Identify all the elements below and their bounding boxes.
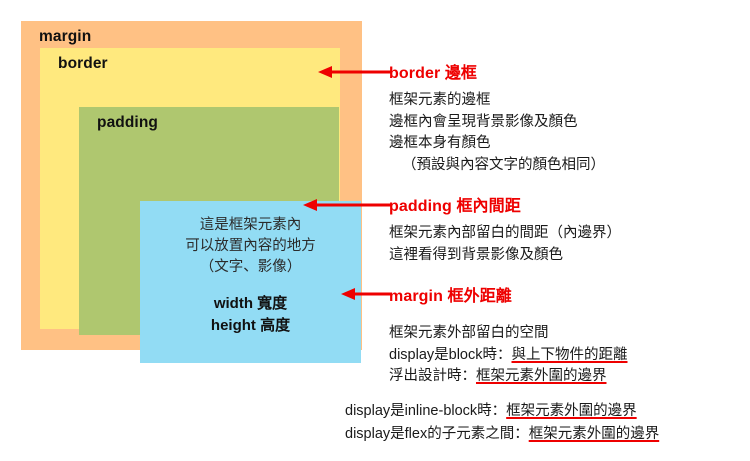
arrow-to-margin-icon — [339, 286, 392, 302]
annotation-border-heading: border 邊框 — [389, 59, 605, 83]
content-dimension-line: height 高度 — [140, 315, 361, 337]
annotation-line-emphasis: 與上下物件的距離 — [512, 347, 628, 363]
annotation-line: 框架元素的邊框 — [389, 90, 605, 112]
annotation-line-prefix: 浮出設計時： — [389, 368, 476, 384]
annotation-line: 浮出設計時：框架元素外圍的邊界 — [389, 366, 628, 388]
annotation-line: display是flex的子元素之間：框架元素外圍的邊界 — [345, 423, 750, 446]
annotation-line: 框架元素內部留白的間距（內邊界） — [389, 223, 621, 245]
annotation-margin-heading: margin 框外距離 — [389, 282, 628, 306]
annotation-padding-heading: padding 框內間距 — [389, 192, 621, 216]
padding-box-label: padding — [97, 114, 158, 132]
annotation-line: display是inline-block時：框架元素外圍的邊界 — [345, 400, 750, 423]
content-description-text: 這是框架元素內可以放置內容的地方（文字、影像） — [140, 215, 361, 278]
annotation-line-prefix: display是block時： — [389, 347, 512, 363]
annotation-padding: padding 框內間距 框架元素內部留白的間距（內邊界）這裡看得到背景影像及顏… — [389, 192, 621, 266]
annotation-line-emphasis: 框架元素外圍的邊界 — [506, 403, 637, 419]
border-box-label: border — [58, 55, 108, 73]
annotation-border: border 邊框 框架元素的邊框邊框內會呈現背景影像及顏色邊框本身有顏色（預設… — [389, 59, 605, 176]
annotation-padding-body: 框架元素內部留白的間距（內邊界）這裡看得到背景影像及顏色 — [389, 223, 621, 266]
annotation-line: 邊框本身有顏色 — [389, 133, 605, 155]
padding-box: padding 這是框架元素內可以放置內容的地方（文字、影像） width 寬度… — [79, 107, 339, 335]
annotation-line-prefix: display是flex的子元素之間： — [345, 426, 529, 442]
annotation-line: 框架元素外部留白的空間 — [389, 323, 628, 345]
annotation-line: 邊框內會呈現背景影像及顏色 — [389, 112, 605, 134]
content-description-line: 這是框架元素內 — [140, 215, 361, 236]
annotation-line-prefix: display是inline-block時： — [345, 403, 506, 419]
box-model-diagram: margin border padding 這是框架元素內可以放置內容的地方（文… — [21, 21, 362, 350]
bottom-notes: display是inline-block時：框架元素外圍的邊界display是f… — [345, 400, 750, 446]
border-box: border padding 這是框架元素內可以放置內容的地方（文字、影像） w… — [40, 48, 340, 329]
margin-box-label: margin — [39, 28, 91, 46]
annotation-line: （預設與內容文字的顏色相同） — [389, 155, 605, 177]
content-description-line: 可以放置內容的地方 — [140, 236, 361, 257]
content-box: 這是框架元素內可以放置內容的地方（文字、影像） width 寬度height 高… — [140, 201, 361, 363]
margin-box: margin border padding 這是框架元素內可以放置內容的地方（文… — [21, 21, 362, 350]
annotation-line-emphasis: 框架元素外圍的邊界 — [529, 426, 660, 442]
annotation-column: border 邊框 框架元素的邊框邊框內會呈現背景影像及顏色邊框本身有顏色（預設… — [389, 0, 750, 461]
arrow-to-border-icon — [316, 64, 392, 80]
annotation-margin-body: 框架元素外部留白的空間display是block時：與上下物件的距離浮出設計時：… — [389, 323, 628, 388]
annotation-border-body: 框架元素的邊框邊框內會呈現背景影像及顏色邊框本身有顏色（預設與內容文字的顏色相同… — [389, 90, 605, 176]
annotation-line-emphasis: 框架元素外圍的邊界 — [476, 368, 607, 384]
arrow-to-padding-icon — [301, 197, 392, 213]
content-description-line: （文字、影像） — [140, 257, 361, 278]
content-dimension-line: width 寬度 — [140, 293, 361, 315]
annotation-line: display是block時：與上下物件的距離 — [389, 345, 628, 367]
annotation-line: 這裡看得到背景影像及顏色 — [389, 245, 621, 267]
annotation-margin: margin 框外距離 框架元素外部留白的空間display是block時：與上… — [389, 282, 628, 388]
content-dimensions-text: width 寬度height 高度 — [140, 293, 361, 337]
